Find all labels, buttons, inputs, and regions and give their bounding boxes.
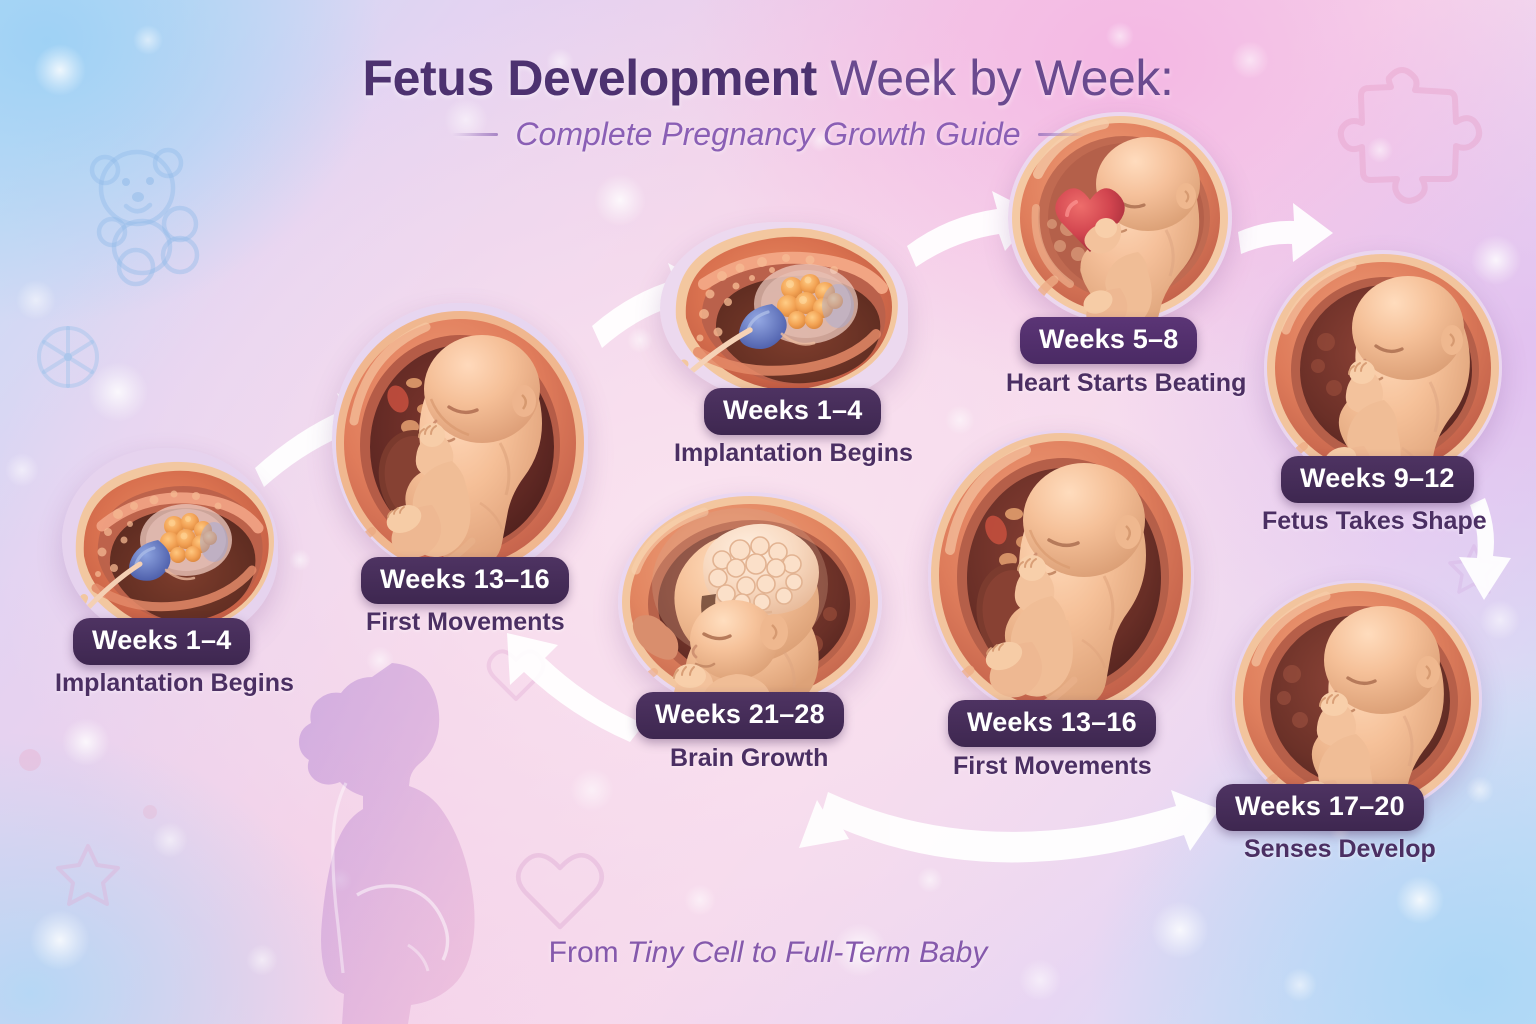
stage-caption: Implantation Begins [55, 669, 294, 698]
page-subtitle: Complete Pregnancy Growth Guide [515, 116, 1020, 153]
stage-caption: Senses Develop [1244, 835, 1436, 864]
stage-first-movements-left[interactable]: Weeks 13–16 First Movements [332, 303, 588, 579]
stage-implantation-left[interactable]: Weeks 1–4 Implantation Begins [62, 448, 278, 644]
subtitle-dash-left [452, 133, 498, 136]
stage-senses-develop[interactable]: Weeks 17–20 Senses Develop [1232, 580, 1482, 818]
stage-badge[interactable]: Weeks 1–4 [704, 388, 881, 435]
heart-outline-icon [489, 651, 544, 699]
stage-fetus-takes-shape[interactable]: Weeks 9–12 Fetus Takes Shape [1264, 250, 1502, 486]
stage-caption: First Movements [366, 608, 565, 637]
stage-implantation-center[interactable]: Weeks 1–4 Implantation Begins [660, 222, 908, 404]
stage-badge[interactable]: Weeks 13–16 [361, 557, 569, 604]
fetus-brain-illustration [618, 492, 882, 712]
fetus-curled-illustration [1232, 580, 1482, 818]
page-title-bold: Fetus Development [363, 50, 817, 106]
subtitle-row: Complete Pregnancy Growth Guide [0, 116, 1536, 153]
footer-tagline: From Tiny Cell to Full-Term Baby [0, 936, 1536, 970]
stage-brain-growth[interactable]: Weeks 21–28 Brain Growth [618, 492, 882, 712]
implantation-diagram-illustration [62, 448, 278, 644]
star-outline-icon [58, 846, 118, 904]
stage-caption: Brain Growth [670, 744, 828, 773]
dot-decor [143, 805, 157, 819]
heart-outline-icon [518, 855, 602, 927]
stage-badge[interactable]: Weeks 1–4 [73, 618, 250, 665]
stage-badge[interactable]: Weeks 5–8 [1020, 317, 1197, 364]
rattle-icon [39, 328, 97, 386]
stage-badge[interactable]: Weeks 13–16 [948, 700, 1156, 747]
arrow-bottom-loop [799, 790, 1219, 862]
dot-decor [19, 749, 41, 771]
stage-badge[interactable]: Weeks 17–20 [1216, 784, 1424, 831]
fetus-curled-illustration [332, 303, 588, 579]
fetus-curled-illustration [1264, 250, 1502, 486]
teddy-bear-icon [92, 150, 197, 284]
stage-first-movements-center[interactable]: Weeks 13–16 First Movements [928, 430, 1194, 720]
header-block: Fetus Development Week by Week: Complete… [0, 52, 1536, 153]
stage-caption: Heart Starts Beating [1006, 369, 1246, 398]
stage-caption: Implantation Begins [674, 439, 913, 468]
stage-badge[interactable]: Weeks 21–28 [636, 692, 844, 739]
footer-italic: Tiny Cell to Full-Term Baby [627, 936, 987, 969]
stage-badge[interactable]: Weeks 9–12 [1281, 456, 1474, 503]
footer-lead: From [549, 936, 627, 969]
page-title: Fetus Development Week by Week: [0, 52, 1536, 105]
stage-caption: First Movements [953, 752, 1152, 781]
stage-caption: Fetus Takes Shape [1262, 507, 1487, 536]
page-title-light: Week by Week: [830, 50, 1173, 106]
implantation-diagram-illustration [660, 222, 908, 404]
fetus-curled-illustration [928, 430, 1194, 720]
subtitle-dash-right [1038, 133, 1084, 136]
